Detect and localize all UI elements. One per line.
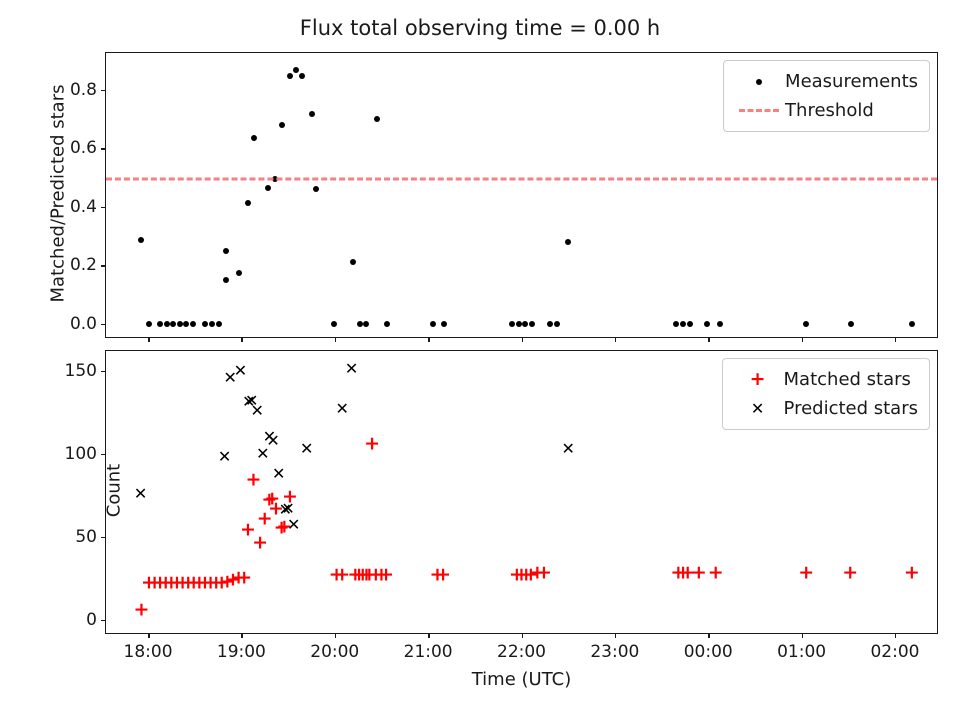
predicted-star-point: ✕ <box>272 466 285 482</box>
x-tick-mark <box>895 633 897 638</box>
measurement-point <box>146 321 152 327</box>
cross-key: ✕ <box>732 401 784 417</box>
y-tick-label: 100 <box>65 444 97 464</box>
x-tick-label: 23:00 <box>590 642 639 662</box>
matched-star-point: + <box>435 565 451 584</box>
predicted-star-point: ✕ <box>561 441 574 457</box>
y-tick-label: 0.4 <box>70 197 97 217</box>
measurement-point <box>554 321 560 327</box>
x-tick-mark <box>428 337 430 342</box>
measurement-point <box>522 321 528 327</box>
x-tick-label: 19:00 <box>217 642 266 662</box>
measurement-point <box>384 321 390 327</box>
predicted-star-point: ✕ <box>281 501 294 517</box>
top-panel-axes: Matched/Predicted stars MeasurementsThre… <box>105 52 938 338</box>
x-tick-mark <box>335 337 337 342</box>
measurement-point <box>209 321 215 327</box>
measurement-point <box>157 321 163 327</box>
y-tick-mark <box>101 537 106 539</box>
x-tick-mark <box>895 337 897 342</box>
measurement-point <box>565 239 571 245</box>
measurement-point <box>287 73 293 79</box>
measurement-point <box>331 321 337 327</box>
measurement-point <box>687 321 693 327</box>
x-tick-label: 22:00 <box>497 642 546 662</box>
measurement-point <box>313 186 319 192</box>
measurement-point <box>803 321 809 327</box>
measurement-point <box>138 237 144 243</box>
legend-label: Measurements <box>785 71 918 92</box>
bottom-panel-axes: Count ++++++++++++++++++++++++++++++++++… <box>105 350 938 634</box>
matched-star-point: + <box>378 565 394 584</box>
measurement-point <box>183 321 189 327</box>
measurement-point <box>245 200 251 206</box>
x-tick-label: 18:00 <box>124 642 173 662</box>
matched-star-point: + <box>252 534 268 553</box>
matched-star-point: + <box>246 471 262 490</box>
dashed-line-key <box>733 109 785 112</box>
measurement-point <box>363 321 369 327</box>
x-tick-mark <box>241 633 243 638</box>
y-tick-label: 0.0 <box>70 314 97 334</box>
predicted-star-point: ✕ <box>300 441 313 457</box>
threshold-line <box>106 177 937 180</box>
x-tick-mark <box>708 633 710 638</box>
plus-key: + <box>732 370 784 389</box>
measurement-point <box>350 259 356 265</box>
matched-star-point: + <box>842 564 858 583</box>
measurement-point <box>223 277 229 283</box>
predicted-star-point: ✕ <box>266 433 279 449</box>
top-panel-ylabel: Matched/Predicted stars <box>48 4 69 384</box>
y-tick-mark <box>101 620 106 622</box>
x-tick-label: 21:00 <box>404 642 453 662</box>
measurement-point <box>909 321 915 327</box>
matched-star-point: + <box>708 564 724 583</box>
measurement-point <box>223 248 229 254</box>
y-tick-mark <box>101 148 106 150</box>
measurement-point <box>848 321 854 327</box>
measurement-point <box>265 185 271 191</box>
legend-label: Matched stars <box>784 369 911 390</box>
x-tick-mark <box>241 337 243 342</box>
dot-icon <box>756 79 762 85</box>
x-tick-mark <box>148 633 150 638</box>
measurement-point <box>516 321 522 327</box>
matched-star-point: + <box>798 564 814 583</box>
x-tick-label: 20:00 <box>310 642 359 662</box>
measurement-point <box>441 321 447 327</box>
bottom-legend-item[interactable]: ✕Predicted stars <box>732 394 918 423</box>
measurement-point <box>704 321 710 327</box>
x-tick-mark <box>802 337 804 342</box>
matched-star-point: + <box>904 564 920 583</box>
measurement-point <box>529 321 535 327</box>
measurement-point <box>717 321 723 327</box>
measurement-point <box>309 111 315 117</box>
matched-star-point: + <box>364 434 380 453</box>
y-tick-mark <box>101 90 106 92</box>
measurement-point <box>202 321 208 327</box>
measurement-point <box>680 321 686 327</box>
y-tick-label: 0.8 <box>70 80 97 100</box>
predicted-star-point: ✕ <box>234 363 247 379</box>
measurement-point <box>547 321 553 327</box>
legend-label: Threshold <box>785 100 874 121</box>
cross-icon: ✕ <box>751 401 764 417</box>
measurement-point <box>177 321 183 327</box>
x-tick-label: 00:00 <box>684 642 733 662</box>
x-tick-mark <box>148 337 150 342</box>
y-tick-label: 0.6 <box>70 138 97 158</box>
predicted-star-point: ✕ <box>287 517 300 533</box>
matched-star-point: + <box>236 569 252 588</box>
x-tick-mark <box>708 337 710 342</box>
measurement-point <box>430 321 436 327</box>
y-tick-mark <box>101 207 106 209</box>
y-tick-mark <box>101 265 106 267</box>
measurement-point <box>190 321 196 327</box>
x-tick-mark <box>522 633 524 638</box>
bottom-panel-legend[interactable]: +Matched stars✕Predicted stars <box>722 358 930 430</box>
x-tick-mark <box>428 633 430 638</box>
predicted-star-point: ✕ <box>134 486 147 502</box>
predicted-star-point: ✕ <box>345 361 358 377</box>
matched-star-point: + <box>134 600 150 619</box>
plus-icon: + <box>750 370 766 389</box>
y-tick-label: 0 <box>86 610 97 630</box>
bottom-legend-item[interactable]: +Matched stars <box>732 365 918 394</box>
x-axis-label: Time (UTC) <box>106 669 937 690</box>
x-tick-label: 02:00 <box>870 642 919 662</box>
y-tick-label: 0.2 <box>70 255 97 275</box>
measurement-point <box>509 321 515 327</box>
predicted-star-point: ✕ <box>336 401 349 417</box>
legend-label: Predicted stars <box>784 398 918 419</box>
y-tick-mark <box>101 454 106 456</box>
x-tick-mark <box>615 337 617 342</box>
dashed-line-icon <box>739 109 779 112</box>
figure-title: Flux total observing time = 0.00 h <box>0 16 960 40</box>
y-tick-mark <box>101 371 106 373</box>
predicted-star-point: ✕ <box>218 449 231 465</box>
measurement-point <box>293 67 299 73</box>
x-tick-label: 01:00 <box>777 642 826 662</box>
measurement-point <box>673 321 679 327</box>
measurement-point <box>279 122 285 128</box>
measurement-point <box>164 321 170 327</box>
measurement-point <box>170 321 176 327</box>
x-tick-mark <box>615 633 617 638</box>
measurement-point <box>251 135 257 141</box>
measurement-point <box>236 270 242 276</box>
measurement-point <box>299 73 305 79</box>
x-tick-mark <box>802 633 804 638</box>
matched-star-point: + <box>691 564 707 583</box>
top-legend-item[interactable]: Measurements <box>733 67 918 96</box>
matched-star-point: + <box>536 564 552 583</box>
x-tick-mark <box>335 633 337 638</box>
measurement-point <box>216 321 222 327</box>
dot-key <box>733 79 785 85</box>
measurement-point <box>374 116 380 122</box>
y-tick-label: 150 <box>65 361 97 381</box>
x-tick-mark <box>522 337 524 342</box>
predicted-star-point: ✕ <box>251 403 264 419</box>
matplotlib-figure: Flux total observing time = 0.00 h Match… <box>0 0 960 720</box>
y-tick-label: 50 <box>75 527 97 547</box>
top-panel-legend[interactable]: MeasurementsThreshold <box>723 60 930 132</box>
top-legend-item[interactable]: Threshold <box>733 96 918 125</box>
